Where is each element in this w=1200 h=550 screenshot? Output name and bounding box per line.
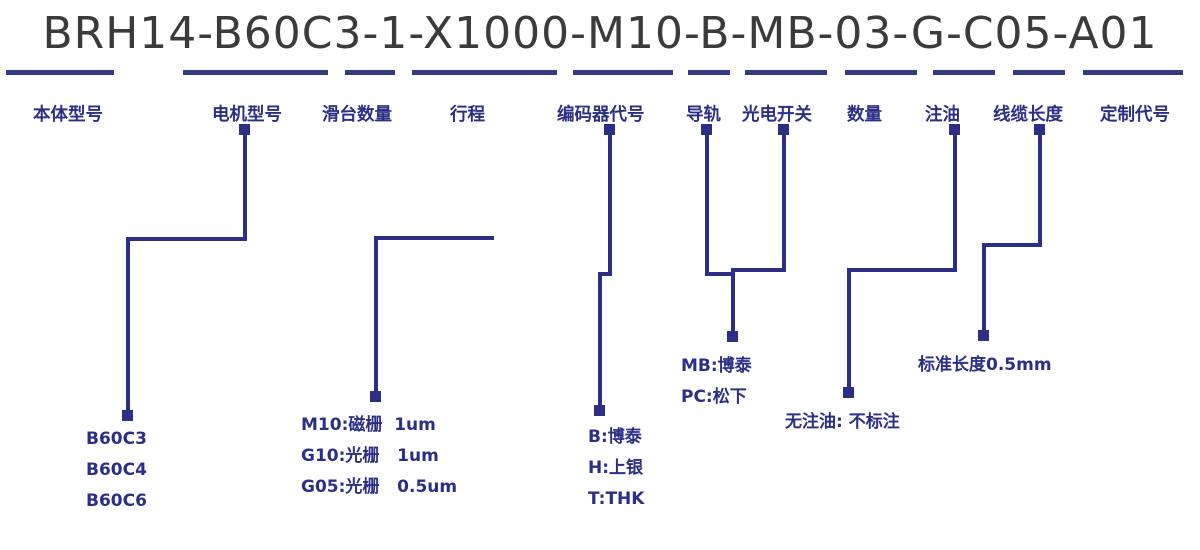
field-label-switch: 光电开关 — [742, 101, 812, 126]
field-label-quantity: 数量 — [847, 101, 882, 126]
underline-segment-encoder — [573, 70, 673, 75]
option-body-model-0: B60C3 — [86, 424, 147, 455]
leader-dot-switch-end — [727, 331, 738, 342]
leader-hline-oil — [847, 268, 957, 272]
options-photoelectric-switch: MB:博泰 PC:松下 — [681, 351, 752, 413]
field-label-slide-qty: 滑台数量 — [322, 101, 392, 126]
underline-segment-stroke — [412, 70, 557, 75]
part-number-heading: BRH14-B60C3-1-X1000-M10-B-MB-03-G-C05-A0… — [0, 8, 1200, 59]
option-oil-injection-0: 无注油: 不标注 — [785, 407, 900, 438]
leader-vline-switch — [782, 130, 786, 272]
options-body-model: B60C3 B60C4 B60C6 — [86, 424, 147, 517]
underline-segment-motor-model — [183, 70, 328, 75]
field-label-motor-model: 电机型号 — [212, 101, 282, 126]
part-number-breakdown-diagram: BRH14-B60C3-1-X1000-M10-B-MB-03-G-C05-A0… — [0, 0, 1200, 550]
field-label-custom: 定制代号 — [1100, 101, 1170, 126]
leader-vline-oil — [953, 130, 957, 272]
underline-segment-rail — [688, 70, 730, 75]
field-label-oil: 注油 — [925, 101, 960, 126]
leader-dot-oil-end — [843, 387, 854, 398]
options-encoder-code: M10:磁栅 1um G10:光栅 1um G05:光栅 0.5um — [301, 410, 457, 503]
options-oil-injection: 无注油: 不标注 — [785, 407, 900, 438]
leader-vline-switch-drop — [731, 268, 735, 336]
underline-segment-quantity — [845, 70, 917, 75]
leader-dot-body-model-end — [122, 410, 133, 421]
underline-segment-body-model — [6, 70, 114, 75]
options-guide-rail: B:博泰 H:上银 T:THK — [588, 422, 644, 515]
leader-vline-cable-drop — [982, 243, 986, 336]
field-label-stroke: 行程 — [450, 101, 485, 126]
option-encoder-code-2: G05:光栅 0.5um — [301, 472, 457, 503]
leader-dot-encoder-options-end — [370, 391, 381, 402]
option-photoelectric-switch-0: MB:博泰 — [681, 351, 752, 382]
field-label-cable: 线缆长度 — [993, 101, 1063, 126]
field-label-encoder: 编码器代号 — [557, 101, 645, 126]
field-label-body-model: 本体型号 — [33, 101, 103, 126]
underline-segment-switch — [745, 70, 827, 75]
option-encoder-code-1: G10:光栅 1um — [301, 441, 457, 472]
option-guide-rail-2: T:THK — [588, 484, 644, 515]
leader-vline-body-model-drop — [126, 237, 130, 415]
underline-segment-cable — [1013, 70, 1065, 75]
leader-vline-encoder-options — [374, 236, 378, 396]
option-photoelectric-switch-1: PC:松下 — [681, 382, 752, 413]
option-cable-length-0: 标准长度0.5mm — [918, 350, 1052, 381]
leader-vline-encoder — [608, 130, 612, 274]
leader-hline-rail — [705, 272, 733, 276]
leader-hline-motor-model — [126, 237, 247, 241]
leader-dot-rail-options-end — [594, 405, 605, 416]
underline-segment-oil — [933, 70, 995, 75]
field-label-rail: 导轨 — [686, 101, 721, 126]
option-guide-rail-0: B:博泰 — [588, 422, 644, 453]
option-encoder-code-0: M10:磁栅 1um — [301, 410, 457, 441]
option-body-model-1: B60C4 — [86, 455, 147, 486]
leader-dot-cable-end — [978, 330, 989, 341]
option-body-model-2: B60C6 — [86, 486, 147, 517]
underline-segment-slide-qty — [345, 70, 395, 75]
leader-hline-cable — [982, 243, 1042, 247]
options-cable-length: 标准长度0.5mm — [918, 350, 1052, 381]
leader-hline-encoder-options — [374, 236, 494, 240]
leader-vline-rail — [705, 130, 709, 274]
leader-vline-oil-drop — [847, 268, 851, 392]
leader-vline-motor-model — [243, 130, 247, 239]
option-guide-rail-1: H:上银 — [588, 453, 644, 484]
underline-segment-custom — [1083, 70, 1183, 75]
leader-hline-switch — [731, 268, 786, 272]
leader-vline-rail-drop — [598, 272, 602, 410]
leader-vline-cable — [1038, 130, 1042, 247]
